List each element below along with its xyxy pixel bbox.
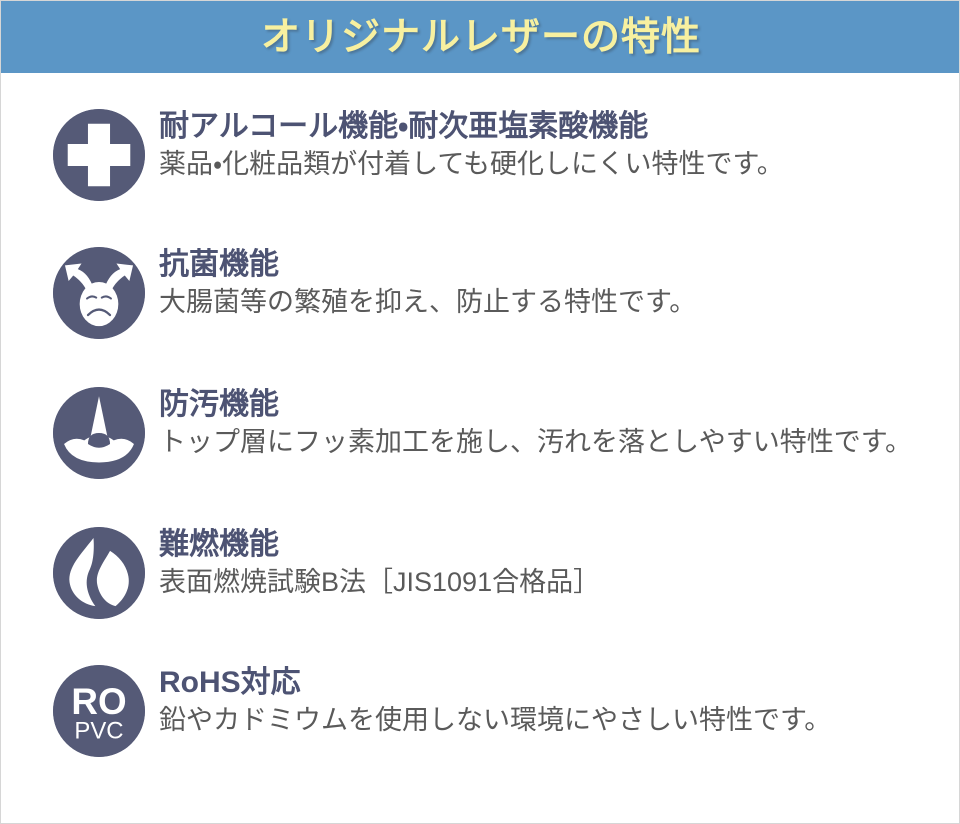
feature-description: トップ層にフッ素加工を施し、汚れを落としやすい特性です。 (159, 426, 960, 459)
feature-row: 耐アルコール機能・耐次亜塩素酸機能 薬品・化粧品類が付着しても硬化しにくい特性で… (1, 103, 960, 241)
antibacterial-germ-icon (53, 247, 145, 339)
feature-panel: オリジナルレザーの特性 耐アルコール機能・耐次亜塩素酸機能 薬品・化粧品類が付着… (0, 0, 960, 824)
feature-list: 耐アルコール機能・耐次亜塩素酸機能 薬品・化粧品類が付着しても硬化しにくい特性で… (1, 73, 960, 799)
pvc-label: PVC (74, 718, 123, 745)
feature-heading: 防汚機能 (159, 387, 960, 424)
feature-row: RO PVC RoHS対応 鉛やカドミウムを使用しない環境にやさしい特性です。 (1, 659, 960, 799)
ro-label: RO (71, 681, 126, 722)
feature-icon-wrap: RO PVC (47, 659, 151, 763)
page-title: オリジナルレザーの特性 (261, 18, 701, 57)
feature-heading: 難燃機能 (159, 527, 960, 564)
feature-text: 防汚機能 トップ層にフッ素加工を施し、汚れを落としやすい特性です。 (151, 381, 960, 459)
medical-cross-icon (53, 109, 145, 201)
feature-icon-wrap (47, 521, 151, 625)
feature-icon-wrap (47, 241, 151, 345)
feature-text: 耐アルコール機能・耐次亜塩素酸機能 薬品・化粧品類が付着しても硬化しにくい特性で… (151, 103, 960, 181)
water-droplet-repellent-icon (53, 387, 145, 479)
feature-row: 防汚機能 トップ層にフッ素加工を施し、汚れを落としやすい特性です。 (1, 381, 960, 521)
feature-row: 抗菌機能 大腸菌等の繁殖を抑え、防止する特性です。 (1, 241, 960, 381)
feature-description: 鉛やカドミウムを使用しない環境にやさしい特性です。 (159, 704, 960, 737)
feature-text: 難燃機能 表面燃焼試験B法［JIS1091合格品］ (151, 521, 960, 599)
flame-icon (53, 527, 145, 619)
feature-description: 大腸菌等の繁殖を抑え、防止する特性です。 (159, 286, 960, 319)
feature-description: 薬品・化粧品類が付着しても硬化しにくい特性です。 (159, 148, 960, 181)
feature-description: 表面燃焼試験B法［JIS1091合格品］ (159, 566, 960, 599)
feature-heading: 耐アルコール機能・耐次亜塩素酸機能 (159, 109, 960, 146)
feature-icon-wrap (47, 381, 151, 485)
header-band: オリジナルレザーの特性 (1, 1, 960, 73)
feature-heading: RoHS対応 (159, 665, 960, 702)
feature-icon-wrap (47, 103, 151, 207)
feature-text: 抗菌機能 大腸菌等の繁殖を抑え、防止する特性です。 (151, 241, 960, 319)
ro-pvc-icon: RO PVC (53, 665, 145, 757)
feature-heading: 抗菌機能 (159, 247, 960, 284)
feature-text: RoHS対応 鉛やカドミウムを使用しない環境にやさしい特性です。 (151, 659, 960, 737)
feature-row: 難燃機能 表面燃焼試験B法［JIS1091合格品］ (1, 521, 960, 659)
